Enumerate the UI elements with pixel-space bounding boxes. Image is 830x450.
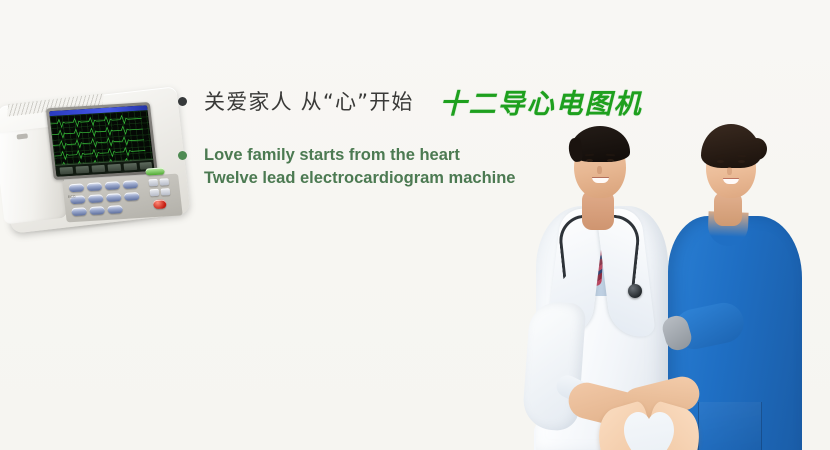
stop-button[interactable] <box>153 199 167 209</box>
subheadline-line-1: Love family starts from the heart <box>204 144 516 167</box>
nurse-scrubs-pocket <box>698 402 762 450</box>
keypad-key-1[interactable] <box>68 183 84 192</box>
screen-softkey-3[interactable] <box>92 165 106 173</box>
keypad-key-11[interactable] <box>107 205 123 214</box>
keypad-key-7[interactable] <box>106 193 122 202</box>
screen-softkey-4[interactable] <box>108 164 122 172</box>
keypad-key-3[interactable] <box>104 181 120 190</box>
start-button[interactable] <box>145 167 165 175</box>
keypad-key-4[interactable] <box>122 180 138 189</box>
doctor-eye-left <box>586 159 593 162</box>
subheadline-english: Love family starts from the heart Twelve… <box>204 144 516 191</box>
device-keypad[interactable] <box>62 174 183 223</box>
nurse-eye-left <box>717 160 724 163</box>
nurse-nose <box>727 167 732 175</box>
ecg-machine: ECG <box>0 77 200 244</box>
device-screen <box>49 105 154 177</box>
ecg-product-banner: ECG 关爱家人 从“心”开始 十二导心电图机 Love family star… <box>0 0 830 450</box>
headline-row: 关爱家人 从“心”开始 十二导心电图机 <box>178 84 698 118</box>
screen-softkey-2[interactable] <box>76 166 90 174</box>
nav-left-button[interactable] <box>150 189 160 197</box>
doctor-nurse-photo <box>512 120 830 450</box>
nav-right-button[interactable] <box>161 188 171 196</box>
nav-up-button[interactable] <box>148 179 158 187</box>
keypad-key-9[interactable] <box>71 207 87 216</box>
bullet-dot-icon <box>178 97 187 106</box>
keypad-key-6[interactable] <box>88 194 104 203</box>
doctor-eye-right <box>607 159 614 162</box>
doctor-nose <box>597 166 602 174</box>
screen-softkey-5[interactable] <box>123 163 137 171</box>
device-brand-label: ECG <box>68 195 76 199</box>
keypad-key-8[interactable] <box>124 192 140 201</box>
keypad-key-10[interactable] <box>89 206 105 215</box>
stethoscope-chestpiece-icon <box>628 284 642 298</box>
device-screen-bezel <box>46 102 158 180</box>
ecg-machine-image: ECG <box>0 88 192 234</box>
subheadline-line-2: Twelve lead electrocardiogram machine <box>204 167 516 190</box>
nurse-hair <box>701 124 761 168</box>
nurse-eye-right <box>738 160 745 163</box>
headline-chinese: 关爱家人 从“心”开始 <box>204 86 414 116</box>
bullet-dot-green-icon <box>178 151 187 160</box>
nav-menu-button[interactable] <box>159 178 169 186</box>
keypad-key-2[interactable] <box>86 182 102 191</box>
product-name-chinese: 十二导心电图机 <box>440 82 643 121</box>
screen-softkey-1[interactable] <box>60 167 74 175</box>
